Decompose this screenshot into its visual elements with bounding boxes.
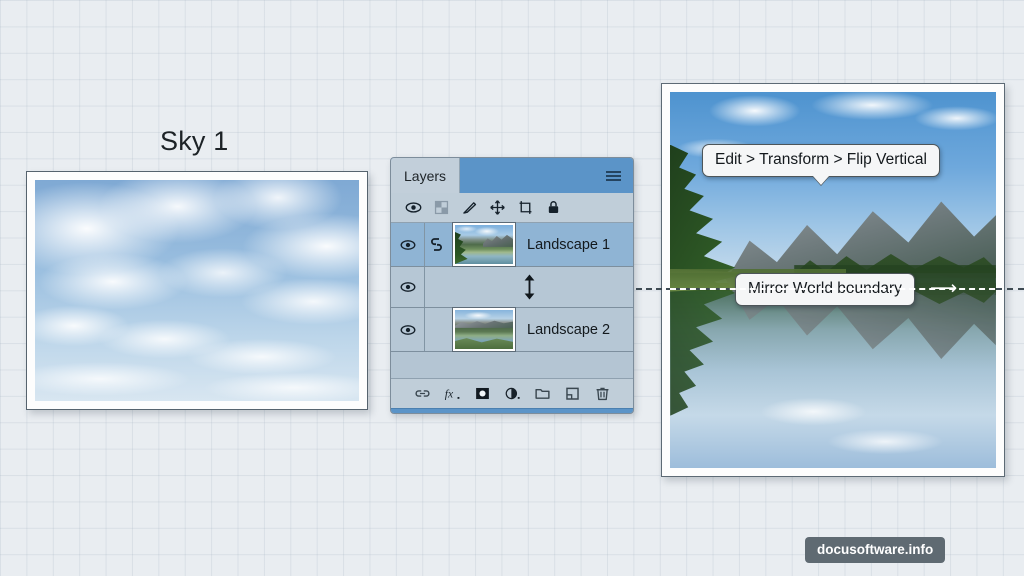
layer-row-landscape-1[interactable]: Landscape 1 (391, 223, 633, 267)
page-title: Sky 1 (160, 126, 229, 157)
layer-name-label[interactable]: Landscape 1 (521, 237, 610, 253)
sky-photo (35, 180, 359, 401)
eye-icon (400, 322, 416, 338)
landscape-thumbnail (453, 308, 515, 351)
eye-icon (400, 279, 416, 295)
layer-name-label[interactable]: Landscape 2 (521, 322, 610, 338)
transparency-lock-icon[interactable] (433, 199, 450, 216)
layers-panel-tabbar: Layers (391, 158, 633, 193)
artboard-lock-icon[interactable] (517, 199, 534, 216)
layer-list-empty-area (391, 352, 633, 378)
adjustment-layer-icon[interactable] (504, 385, 521, 402)
sky-artboard-card[interactable] (26, 171, 368, 410)
lock-all-icon[interactable] (545, 199, 562, 216)
layer-style-fx-icon[interactable]: fx (444, 385, 461, 402)
flip-vertical-arrow-glyph (521, 273, 538, 301)
right-arrow-icon: ⟶ (930, 280, 957, 297)
tab-layers[interactable]: Layers (391, 158, 460, 193)
tab-layers-label: Layers (404, 168, 446, 184)
callout-flip-vertical-label: Edit > Transform > Flip Vertical (715, 151, 927, 168)
flip-vertical-arrow-icon (425, 267, 633, 307)
layers-panel-statusbar (391, 408, 633, 414)
new-layer-icon[interactable] (564, 385, 581, 402)
delete-layer-trash-icon[interactable] (594, 385, 611, 402)
layer-visibility-toggle[interactable] (391, 223, 425, 266)
brush-lock-icon[interactable] (461, 199, 478, 216)
landscape-thumbnail (453, 223, 515, 266)
layers-panel[interactable]: Layers (390, 157, 634, 414)
callout-flip-vertical[interactable]: Edit > Transform > Flip Vertical (702, 144, 940, 177)
watermark-label: docusoftware.info (817, 542, 933, 557)
layer-list[interactable]: Landscape 1 (391, 223, 633, 378)
layer-link-icon[interactable] (425, 237, 447, 252)
watermark-badge: docusoftware.info (805, 537, 945, 563)
hamburger-menu-icon[interactable] (594, 158, 633, 193)
layer-visibility-toggle[interactable] (391, 308, 425, 351)
layer-link-glyph (430, 237, 443, 252)
layers-panel-bottom-toolbar: fx (391, 378, 633, 408)
add-mask-icon[interactable] (474, 385, 491, 402)
layer-visibility-toggle[interactable] (391, 267, 425, 307)
layer-row-landscape-2[interactable]: Landscape 2 (391, 308, 633, 352)
layer-thumbnail-cell[interactable] (447, 308, 521, 351)
move-lock-icon[interactable] (489, 199, 506, 216)
layer-row-flip-indicator[interactable] (391, 267, 633, 308)
link-layers-icon[interactable] (414, 385, 431, 402)
mirror-boundary-line-right (996, 288, 1024, 290)
eye-icon[interactable] (405, 199, 422, 216)
layers-panel-lock-toolbar (391, 193, 633, 223)
eye-icon (400, 237, 416, 253)
layer-thumbnail-cell[interactable] (447, 223, 521, 266)
new-group-folder-icon[interactable] (534, 385, 551, 402)
svg-text:fx: fx (444, 388, 453, 401)
